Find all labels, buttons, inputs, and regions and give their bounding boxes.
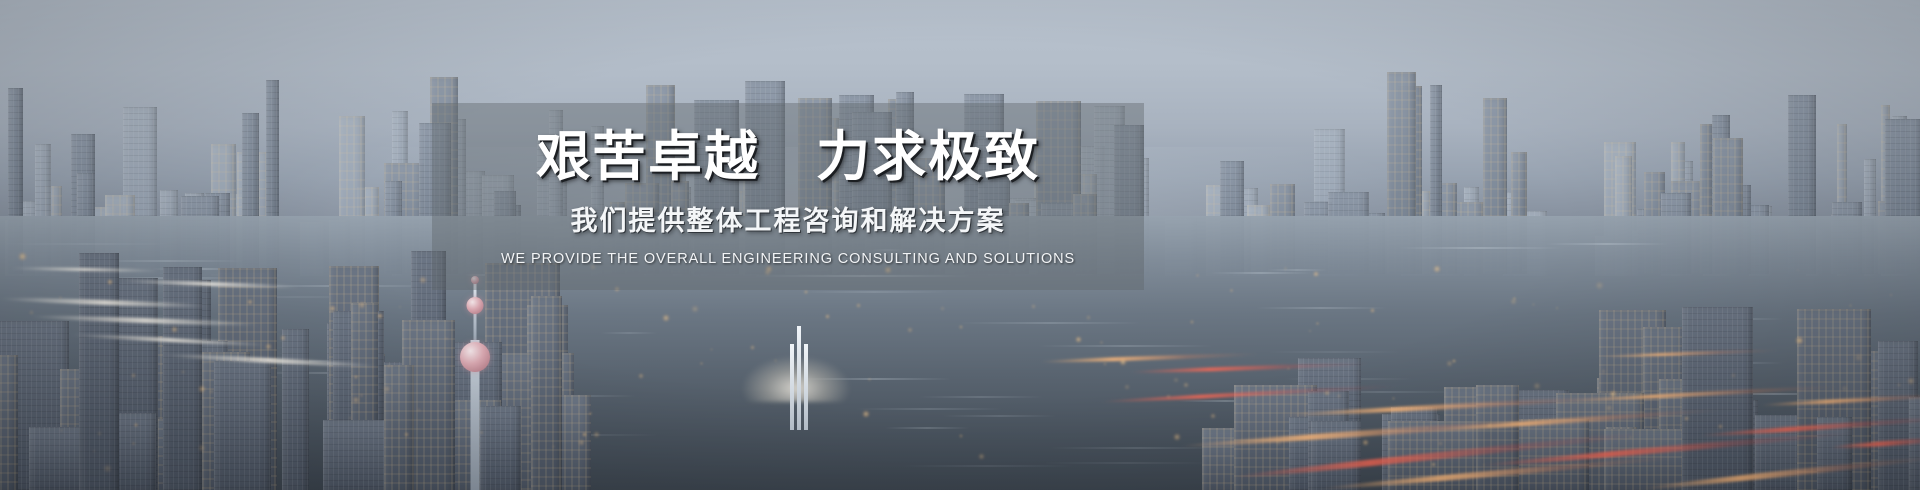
city-light	[1438, 441, 1443, 446]
building-windows	[214, 361, 271, 490]
city-light	[1897, 383, 1901, 387]
city-light	[1392, 397, 1395, 400]
oriental-pearl-tower-icon	[468, 285, 482, 490]
building	[480, 406, 520, 490]
city-light	[387, 364, 391, 368]
city-light	[383, 385, 391, 393]
building-windows	[480, 406, 520, 490]
building-windows	[163, 267, 202, 490]
city-light	[1795, 336, 1804, 345]
city-light	[1854, 353, 1863, 362]
building-windows	[79, 253, 119, 490]
city-light	[18, 252, 27, 261]
building	[1682, 307, 1753, 490]
city-light	[710, 348, 713, 351]
city-light	[1173, 377, 1179, 383]
city-light	[29, 310, 34, 315]
city-light	[1556, 307, 1558, 309]
city-light	[940, 306, 945, 311]
city-light	[354, 375, 358, 379]
city-light	[132, 442, 135, 445]
city-light	[1230, 289, 1233, 292]
building	[282, 329, 309, 490]
building-windows	[0, 355, 18, 490]
city-light	[1718, 424, 1723, 429]
building-windows	[282, 329, 309, 490]
city-light	[1510, 298, 1517, 305]
city-light	[1370, 308, 1375, 313]
page-title: 艰苦卓越 力求极致	[536, 129, 1040, 183]
building	[214, 361, 271, 490]
city-light	[358, 301, 366, 309]
city-light	[417, 408, 421, 412]
fountain-glow	[742, 356, 850, 402]
city-light	[1595, 281, 1604, 290]
city-light	[1210, 413, 1216, 419]
city-light	[578, 439, 585, 446]
city-light	[404, 432, 409, 437]
city-light	[1287, 367, 1290, 370]
city-light	[97, 431, 102, 436]
city-light	[360, 394, 363, 397]
city-light	[1086, 315, 1091, 320]
city-light	[959, 434, 963, 438]
city-light	[131, 373, 136, 378]
city-light	[1100, 341, 1103, 344]
city-light	[265, 343, 272, 350]
city-light	[377, 313, 383, 319]
hero-text-panel: 艰苦卓越 力求极致 我们提供整体工程咨询和解决方案 WE PROVIDE THE…	[432, 103, 1144, 290]
page-subtitle: 我们提供整体工程咨询和解决方案	[571, 208, 1006, 235]
city-light	[552, 445, 555, 448]
hero-banner: 艰苦卓越 力求极致 我们提供整体工程咨询和解决方案 WE PROVIDE THE…	[0, 0, 1920, 490]
city-light	[1124, 384, 1130, 390]
building	[79, 253, 119, 490]
building	[531, 296, 562, 490]
city-light	[1275, 439, 1282, 446]
city-light	[1362, 439, 1369, 446]
city-light	[445, 337, 448, 340]
city-light	[1609, 390, 1617, 398]
city-light	[1533, 382, 1541, 390]
city-light	[582, 432, 587, 437]
english-tagline: WE PROVIDE THE OVERALL ENGINEERING CONSU…	[501, 252, 1075, 267]
city-light	[59, 296, 62, 299]
city-light	[181, 370, 185, 374]
city-light	[804, 290, 808, 294]
city-light	[1196, 274, 1199, 277]
city-light	[868, 378, 871, 381]
city-light	[1684, 416, 1689, 421]
city-light	[1849, 304, 1852, 307]
building	[384, 365, 414, 490]
building-windows	[531, 296, 562, 490]
city-light	[700, 362, 703, 365]
building-windows	[384, 365, 414, 490]
building	[0, 355, 18, 490]
building	[163, 267, 202, 490]
city-light	[352, 396, 360, 404]
building-windows	[1682, 307, 1753, 490]
city-light	[209, 389, 214, 394]
city-light	[103, 464, 112, 473]
city-light	[171, 326, 178, 333]
